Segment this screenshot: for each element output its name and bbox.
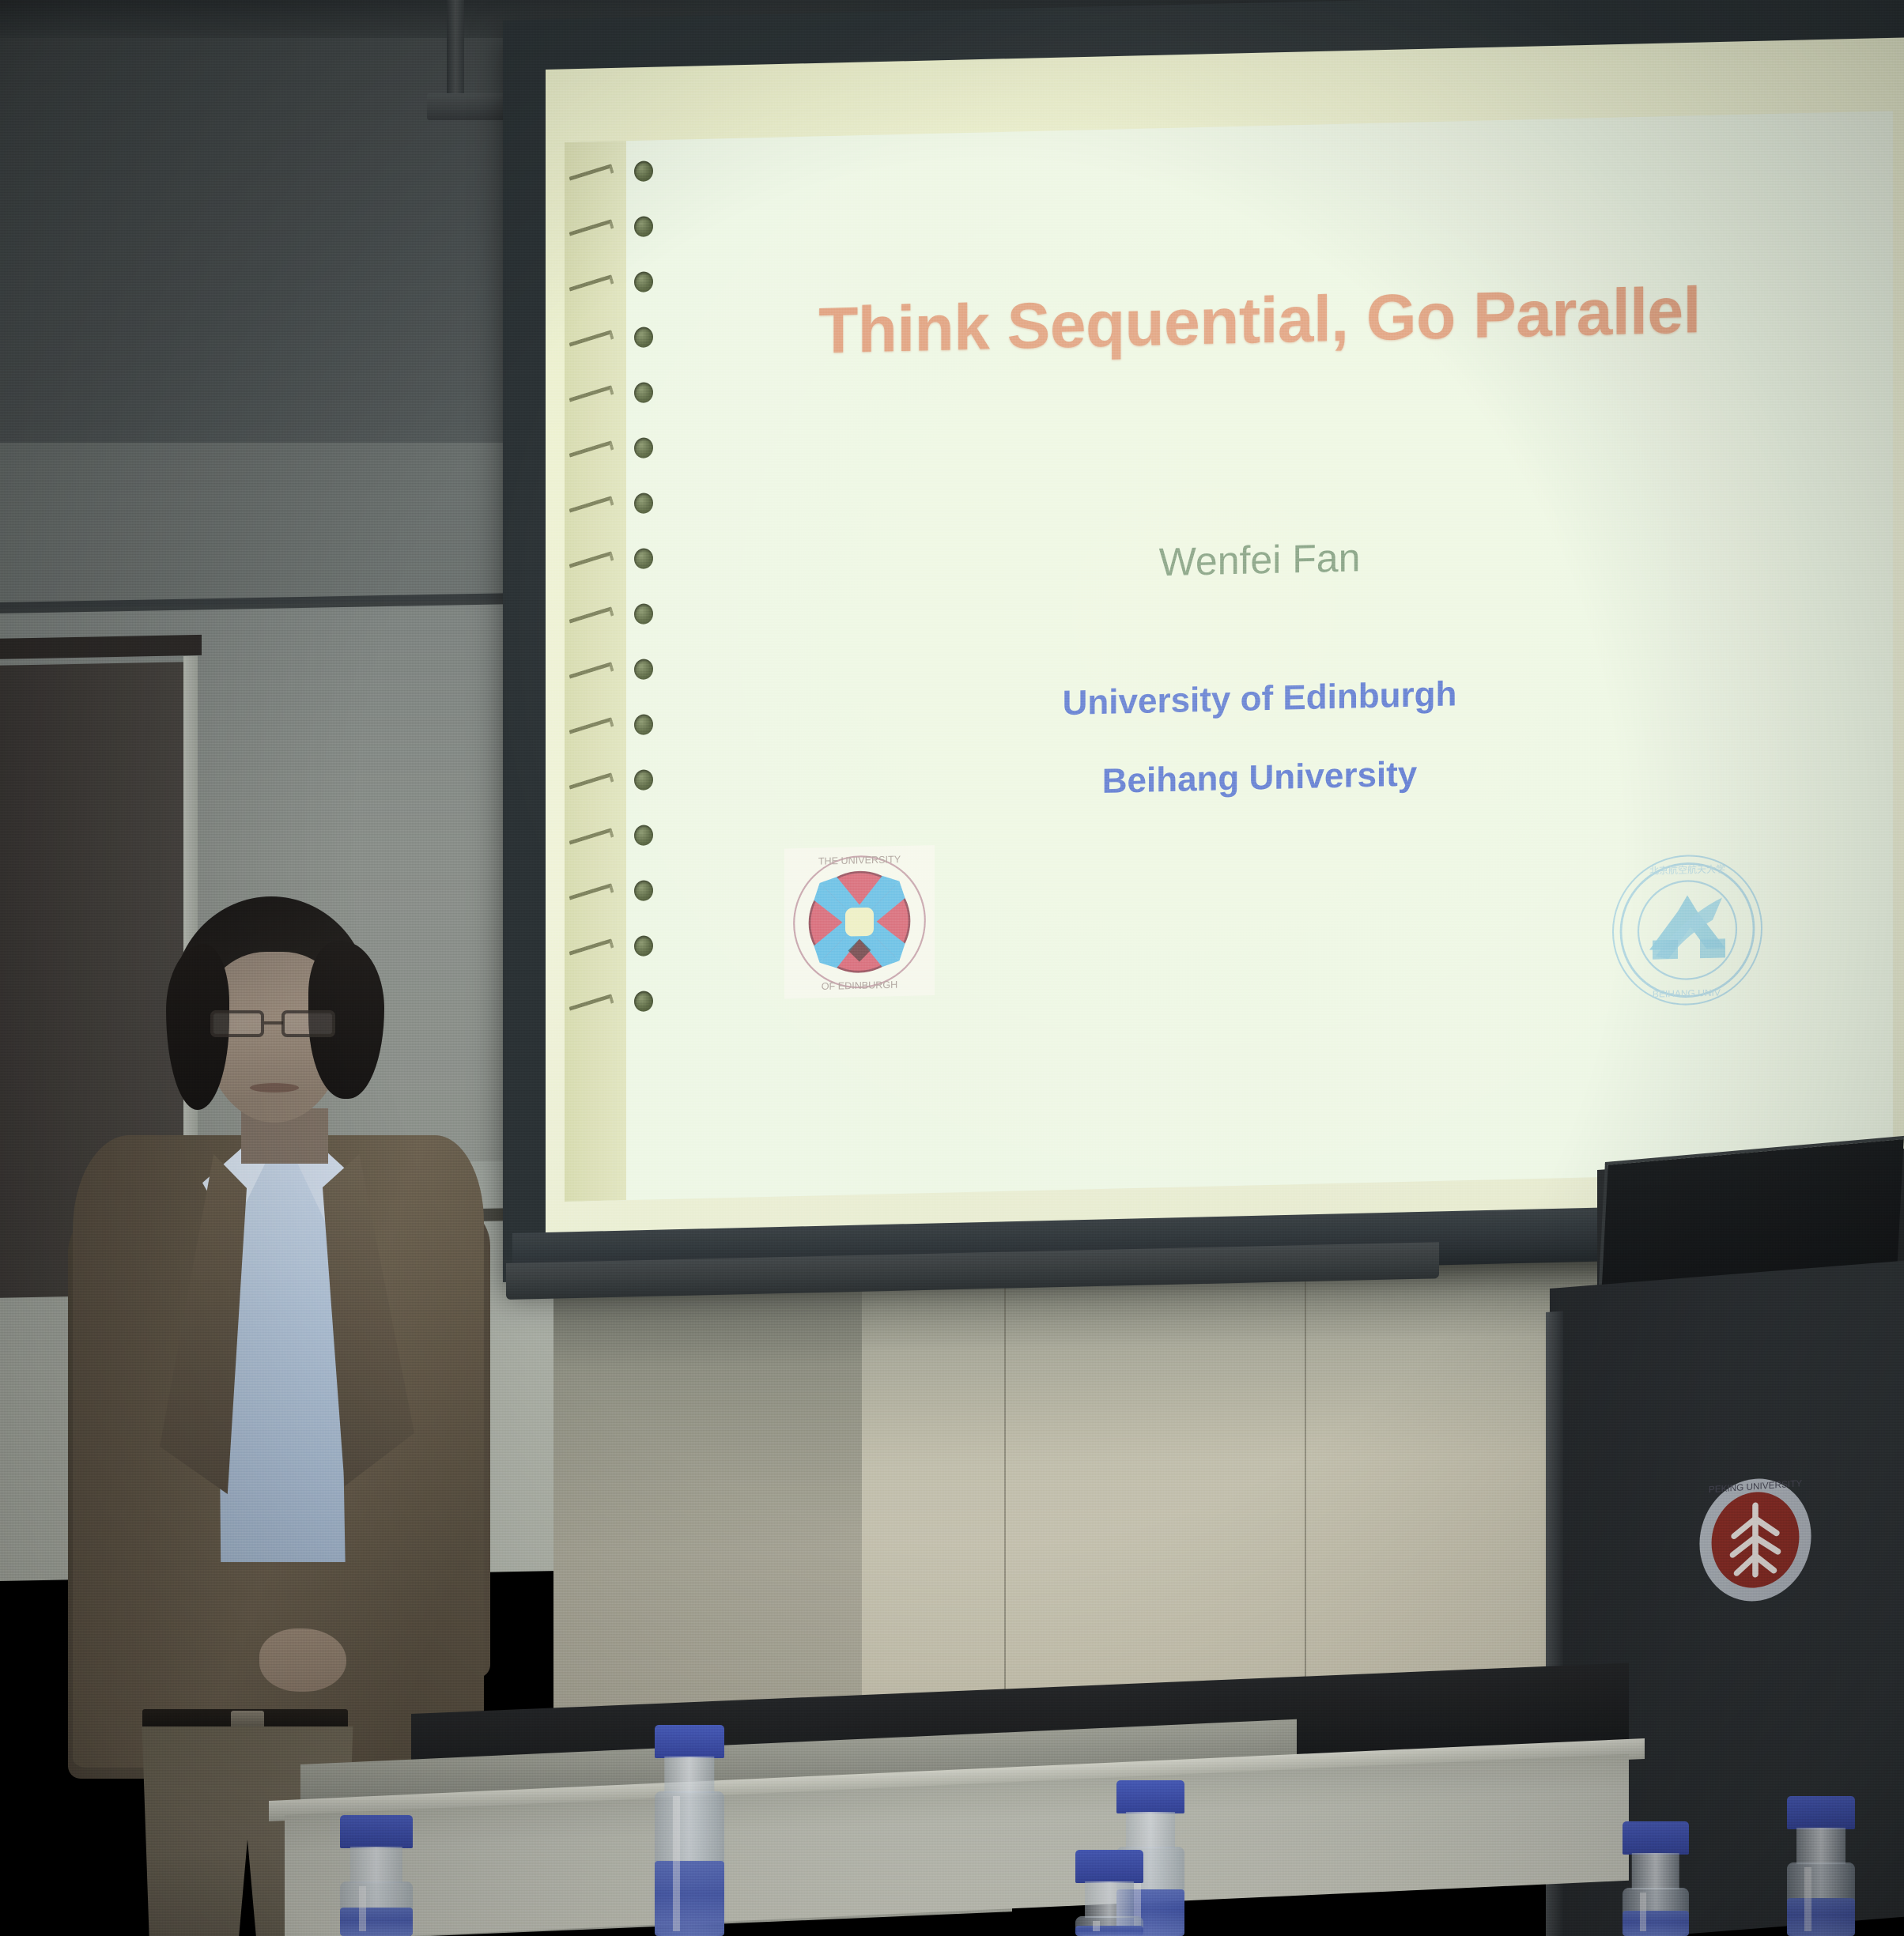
beihang-university-seal-icon: 北京航空航天大学 BEIHANG UNIV. xyxy=(1608,849,1766,1011)
lecture-hall-photo: Think Sequential, Go Parallel Wenfei Fan… xyxy=(0,0,1904,1936)
svg-text:BEIHANG UNIV.: BEIHANG UNIV. xyxy=(1653,987,1722,999)
eyeglasses-icon xyxy=(281,1010,335,1037)
eyeglasses-bridge xyxy=(264,1021,283,1025)
water-bottle[interactable] xyxy=(1623,1821,1689,1936)
upper-wall-shadow xyxy=(0,0,553,443)
water-bottle[interactable] xyxy=(1787,1796,1855,1936)
university-of-edinburgh-crest-icon: THE UNIVERSITY OF EDINBURGH xyxy=(784,845,935,998)
door-lintel xyxy=(0,635,202,659)
slide-title: Think Sequential, Go Parallel xyxy=(626,269,1893,373)
eyeglasses-icon xyxy=(210,1010,264,1037)
svg-text:北京航空航天大学: 北京航空航天大学 xyxy=(1649,862,1725,876)
svg-text:OF EDINBURGH: OF EDINBURGH xyxy=(822,979,898,992)
slide-content-area: Think Sequential, Go Parallel Wenfei Fan… xyxy=(626,111,1893,1200)
water-bottle[interactable] xyxy=(655,1725,724,1936)
projector-mount-pole xyxy=(447,0,464,101)
slide-affiliation-edinburgh: University of Edinburgh xyxy=(626,664,1893,734)
water-bottle[interactable] xyxy=(1075,1850,1143,1936)
presentation-slide: Think Sequential, Go Parallel Wenfei Fan… xyxy=(565,111,1893,1202)
water-bottle[interactable] xyxy=(340,1815,413,1936)
slide-spiral-margin xyxy=(565,141,626,1202)
svg-text:THE UNIVERSITY: THE UNIVERSITY xyxy=(818,854,901,866)
speaker-hands xyxy=(259,1628,346,1692)
peking-university-seal-icon: PEKING UNIVERSITY xyxy=(1689,1464,1822,1616)
slide-author-name: Wenfei Fan xyxy=(626,522,1893,598)
slide-affiliation-beihang: Beihang University xyxy=(626,743,1893,813)
speaker-mouth xyxy=(250,1083,299,1093)
